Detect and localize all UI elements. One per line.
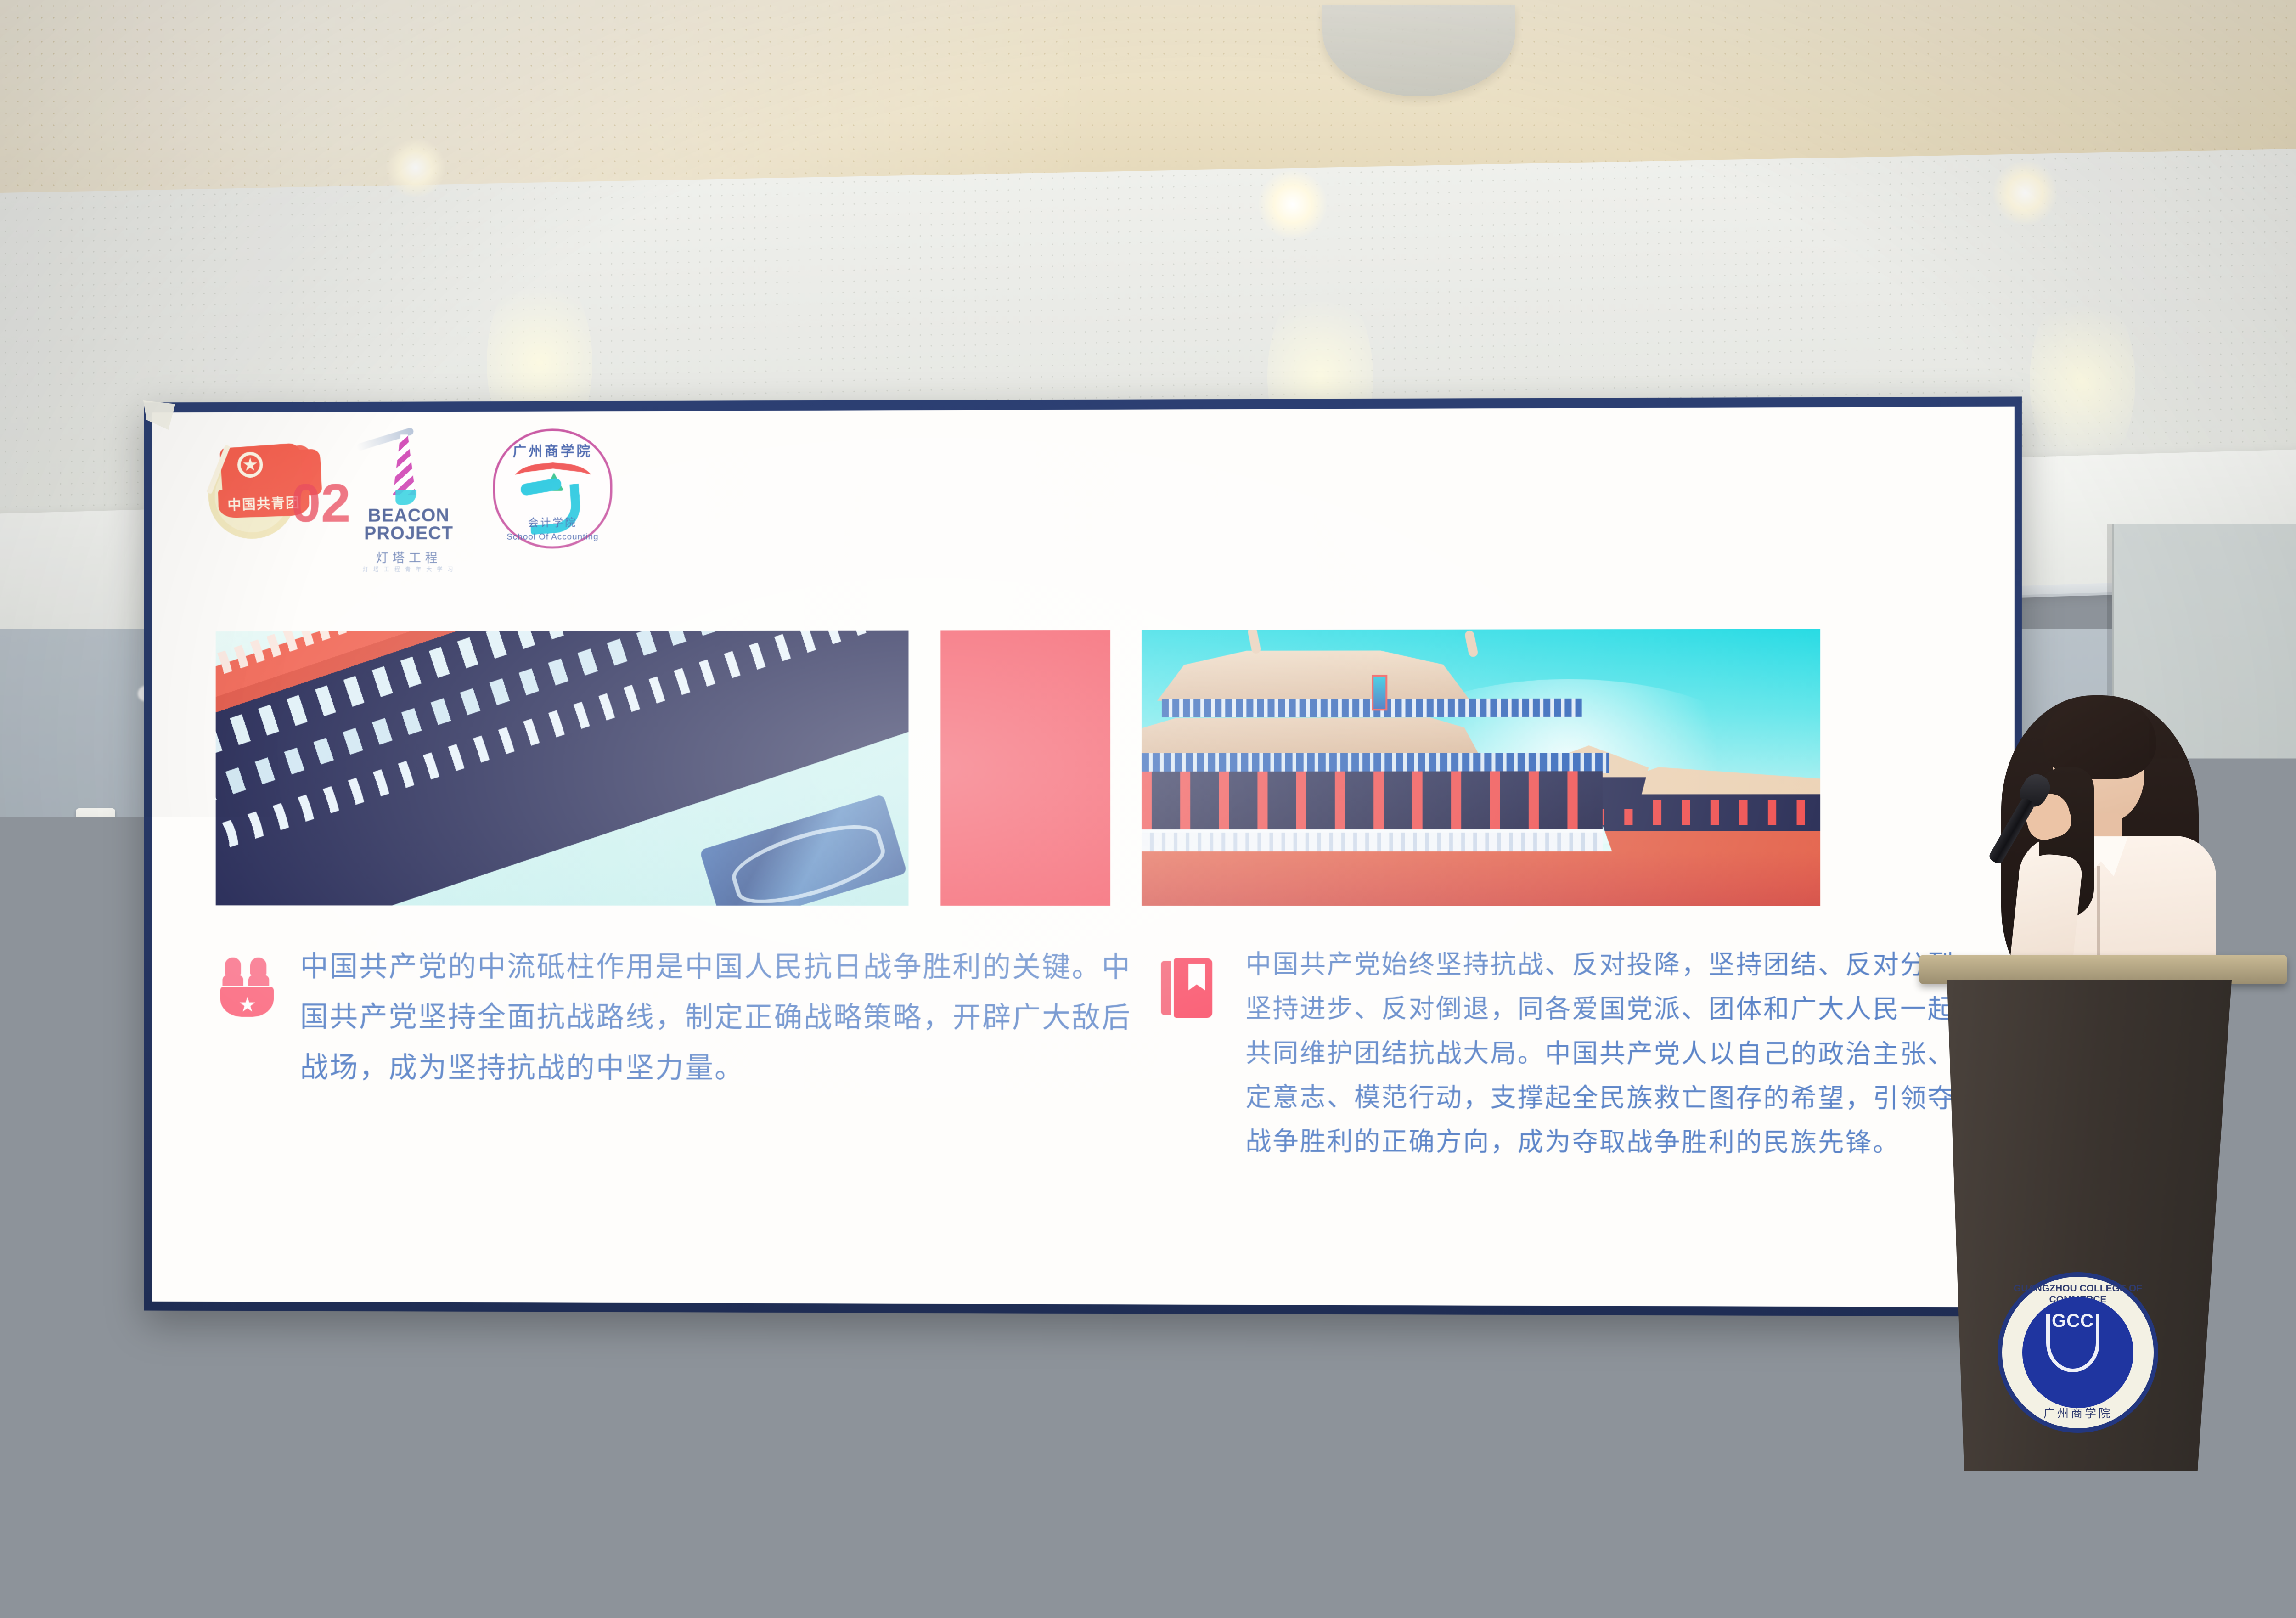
slide-text-columns: 中国共产党的中流砥柱作用是中国人民抗日战争胜利的关键。中国共产党坚持全面抗战路线… [220, 942, 1987, 1166]
slide-logo-row: 中国共青团 02 BEACON PROJECT 灯塔工程 灯 塔 工 程 青 年… [202, 428, 612, 549]
beacon-project-logo: BEACON PROJECT 灯塔工程 灯 塔 工 程 青 年 大 学 习 [352, 432, 466, 546]
auditorium-seat[interactable] [1088, 1534, 1300, 1618]
shirt-print: 会 [2250, 1603, 2271, 1618]
presentation-slide: 中国共青团 02 BEACON PROJECT 灯塔工程 灯 塔 工 程 青 年… [152, 407, 2014, 1308]
hair-clip [1231, 1299, 1249, 1322]
slide-paragraph-right: 中国共产党始终坚持抗战、反对投降，坚持团结、反对分裂，坚持进步、反对倒退，同各爱… [1245, 942, 1986, 1166]
school-chinese-bottom: 会计学院 [493, 513, 612, 529]
downlight-icon [386, 138, 445, 197]
slide-column-right: 中国共产党始终坚持抗战、反对投降，坚持团结、反对分裂，坚持进步、反对倒退，同各爱… [1161, 942, 1986, 1166]
water-bottle[interactable] [1460, 1318, 1491, 1516]
audience-head [1194, 1235, 1350, 1539]
slide-number-badge: 02 [291, 476, 351, 530]
slide-column-left: 中国共产党的中流砥柱作用是中国人民抗日战争胜利的关键。中国共产党坚持全面抗战路线… [220, 942, 1161, 1164]
red-divider-block [940, 630, 1110, 906]
school-chinese-top: 广州商学院 [493, 440, 612, 460]
slide-image-row [216, 629, 1820, 906]
book-bookmark-icon [1161, 958, 1212, 1018]
downlight-glow-icon [2030, 285, 2135, 478]
school-english-name: School Of Accounting [493, 532, 612, 542]
downlight-icon [1258, 170, 1327, 239]
beacon-subtitle: 灯 塔 工 程 青 年 大 学 习 [352, 565, 466, 573]
wall-power-outlet[interactable] [76, 808, 115, 844]
forbidden-city-eave-photo [216, 631, 909, 906]
beacon-chinese-name: 灯塔工程 [352, 548, 466, 566]
paper-cup[interactable] [2066, 1534, 2122, 1618]
podium-speakers-icon [220, 958, 274, 1017]
downlight-icon [1993, 161, 2057, 225]
water-bottle[interactable] [1070, 1304, 1100, 1497]
communist-youth-league-emblem: 中国共青团 02 [202, 434, 325, 544]
podium-desktop [1919, 955, 2287, 984]
beacon-english-name: BEACON PROJECT [352, 507, 466, 543]
seated-audience: 会 [0, 1240, 2296, 1618]
forbidden-city-palace-photo [1142, 629, 1820, 906]
projection-screen: 中国共青团 02 BEACON PROJECT 灯塔工程 灯 塔 工 程 青 年… [144, 396, 2022, 1316]
school-of-accounting-logo: 广州商学院 会计学院 School Of Accounting [493, 428, 612, 549]
screenshot-root: 中国共青团 02 BEACON PROJECT 灯塔工程 灯 塔 工 程 青 年… [0, 0, 2296, 1618]
slide-paragraph-left: 中国共产党的中流砥柱作用是中国人民抗日战争胜利的关键。中国共产党坚持全面抗战路线… [300, 942, 1161, 1094]
lighthouse-icon [393, 434, 416, 495]
